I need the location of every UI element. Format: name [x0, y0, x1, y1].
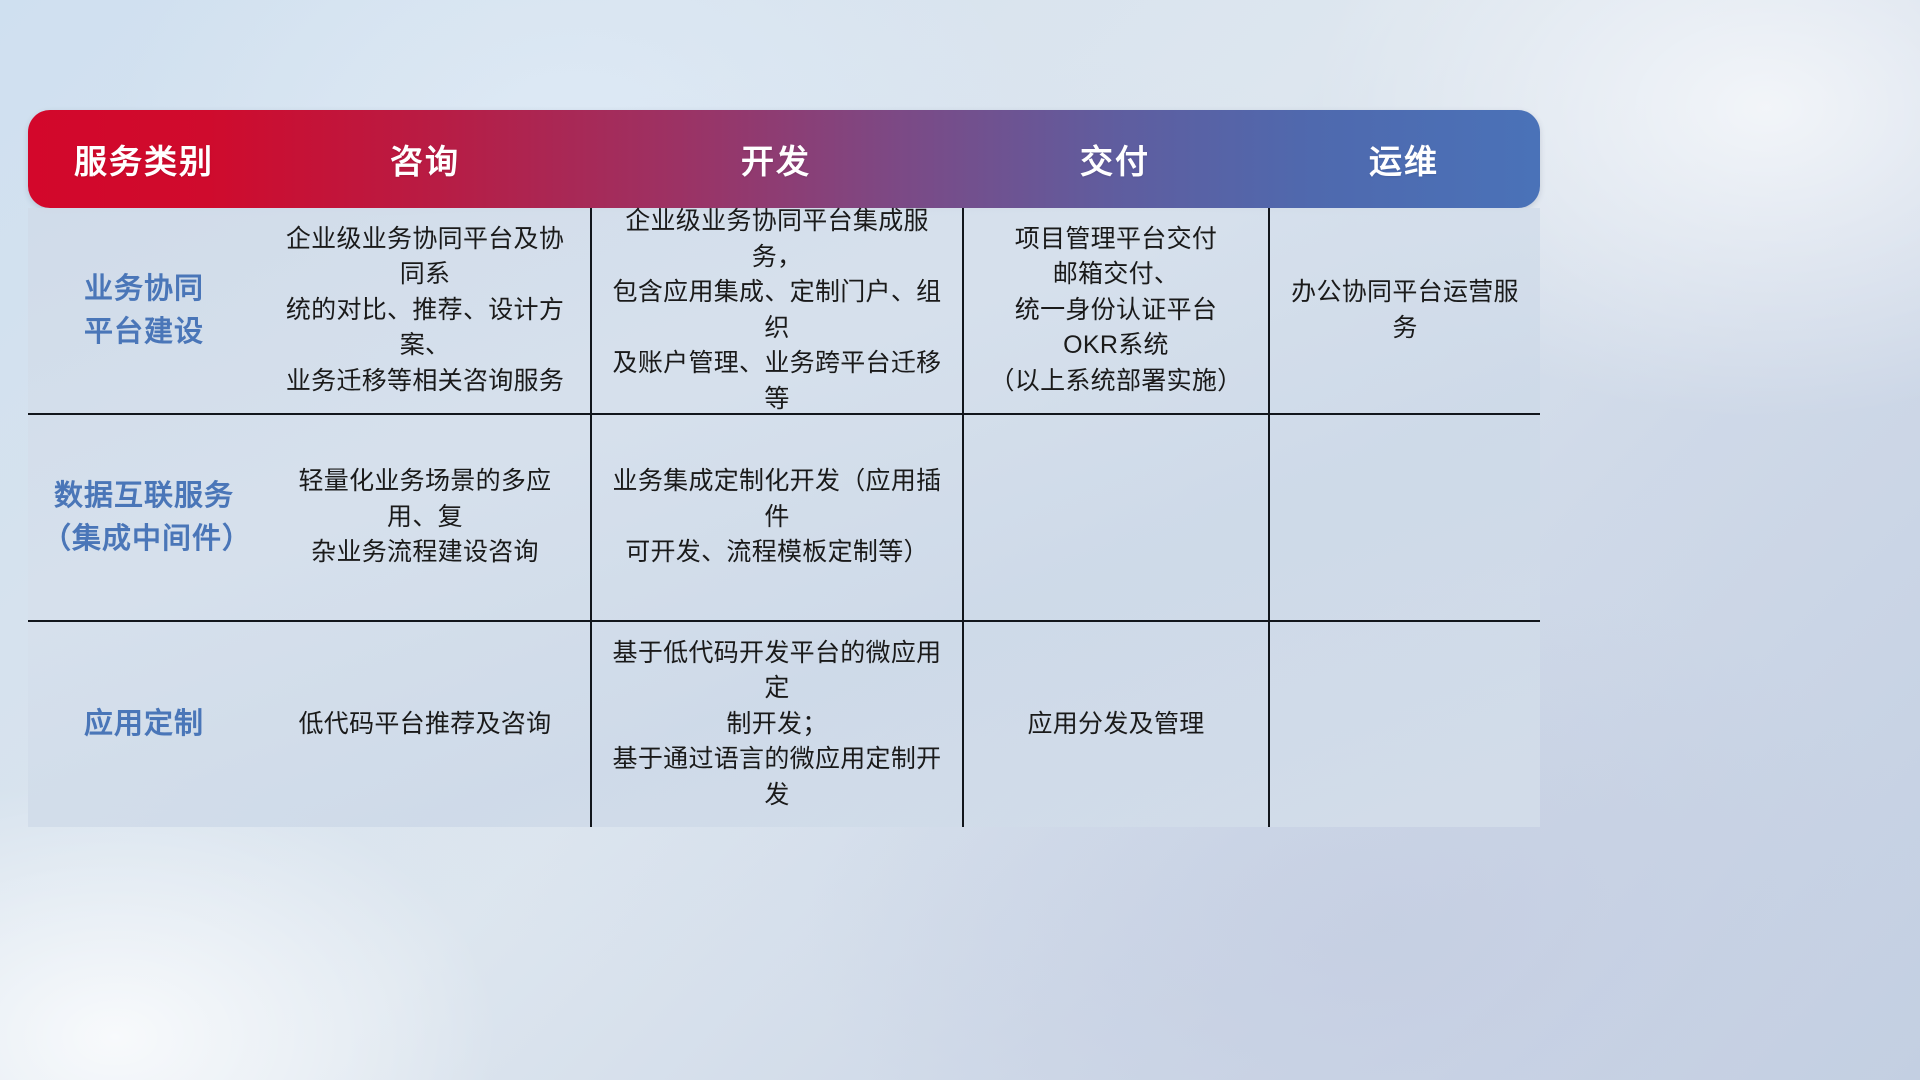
- cell-operations: [1268, 622, 1540, 827]
- cell-development: 企业级业务协同平台集成服务， 包含应用集成、定制门户、组织 及账户管理、业务跨平…: [590, 208, 962, 413]
- cell-operations: 办公协同平台运营服务: [1268, 208, 1540, 413]
- cell-consulting: 轻量化业务场景的多应用、复 杂业务流程建设咨询: [260, 415, 590, 620]
- cell-consulting: 企业级业务协同平台及协同系 统的对比、推荐、设计方案、 业务迁移等相关咨询服务: [260, 208, 590, 413]
- column-header-category: 服务类别: [28, 110, 260, 208]
- column-header-development: 开发: [590, 110, 962, 208]
- cell-operations: [1268, 415, 1540, 620]
- table-body: 业务协同 平台建设 企业级业务协同平台及协同系 统的对比、推荐、设计方案、 业务…: [28, 208, 1540, 827]
- row-category-label: 业务协同 平台建设: [28, 208, 260, 413]
- cell-development: 业务集成定制化开发（应用插件 可开发、流程模板定制等）: [590, 415, 962, 620]
- row-category-label: 应用定制: [28, 622, 260, 827]
- service-matrix-table: 服务类别 咨询 开发 交付 运维 业务协同 平台建设 企业级业务协同平台及协同系…: [28, 110, 1540, 827]
- cell-consulting: 低代码平台推荐及咨询: [260, 622, 590, 827]
- row-category-label: 数据互联服务 （集成中间件）: [28, 415, 260, 620]
- cell-delivery: 项目管理平台交付 邮箱交付、 统一身份认证平台 OKR系统 （以上系统部署实施）: [962, 208, 1268, 413]
- cell-delivery: [962, 415, 1268, 620]
- table-row: 业务协同 平台建设 企业级业务协同平台及协同系 统的对比、推荐、设计方案、 业务…: [28, 208, 1540, 413]
- column-header-delivery: 交付: [962, 110, 1268, 208]
- table-row: 应用定制 低代码平台推荐及咨询 基于低代码开发平台的微应用定 制开发； 基于通过…: [28, 620, 1540, 827]
- cell-development: 基于低代码开发平台的微应用定 制开发； 基于通过语言的微应用定制开发: [590, 622, 962, 827]
- column-header-consulting: 咨询: [260, 110, 590, 208]
- column-header-operations: 运维: [1268, 110, 1540, 208]
- table-row: 数据互联服务 （集成中间件） 轻量化业务场景的多应用、复 杂业务流程建设咨询 业…: [28, 413, 1540, 620]
- cell-delivery: 应用分发及管理: [962, 622, 1268, 827]
- table-header-row: 服务类别 咨询 开发 交付 运维: [28, 110, 1540, 208]
